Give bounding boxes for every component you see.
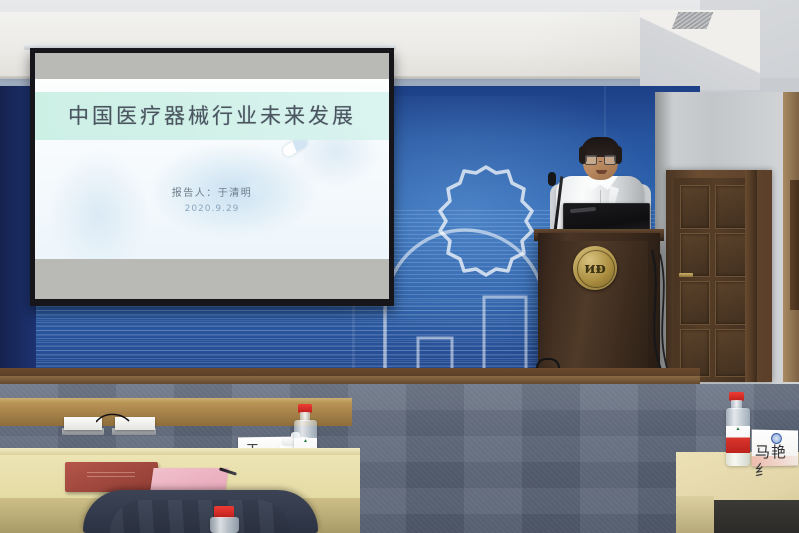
nameplate-right-text: 马艳纟: [755, 443, 798, 480]
microphone-head-icon: [548, 172, 556, 186]
slide-date: 2020.9.29: [35, 204, 389, 214]
bottle-brand-right: 矿泉水: [726, 432, 750, 437]
conference-photo: 中国医疗器械行业未来发展 报告人：于清明 2020.9.29: [0, 0, 799, 533]
projection-screen: 中国医疗器械行业未来发展 报告人：于清明 2020.9.29: [30, 48, 394, 306]
right-wall-panel: [790, 180, 799, 310]
air-vent-grille: [672, 12, 714, 29]
right-table-skirt: [676, 496, 714, 533]
red-folder: [65, 462, 158, 492]
chair-fabric-folds: [110, 500, 290, 533]
eyeglass-lens-left: [585, 155, 597, 165]
slide-title: 中国医疗器械行业未来发展: [35, 97, 389, 135]
laptop-screen-glare: [570, 207, 596, 213]
eyeglass-bridge: [599, 161, 603, 162]
emblem-mark: ᴎᴆ: [573, 246, 617, 290]
slide-presenter-line: 报告人：于清明: [35, 184, 389, 199]
folder-emboss: [87, 472, 135, 480]
door-jamb: [745, 170, 757, 382]
pink-paper: [150, 468, 228, 490]
chair-back: [83, 490, 318, 533]
eyeglasses-icon: [585, 155, 616, 164]
eyeglass-lens-right: [604, 155, 616, 165]
speaker-brow-right: [603, 152, 614, 154]
projected-slide: 中国医疗器械行业未来发展 报告人：于清明 2020.9.29: [35, 79, 389, 259]
institution-emblem: ᴎᴆ: [573, 246, 617, 290]
bottle-label-right: ▲ 矿泉水: [726, 426, 750, 453]
water-bottle-foreground: [210, 517, 239, 533]
door-panel-1: [680, 185, 710, 229]
speaker-brow-left: [586, 152, 597, 154]
water-bottle-right: ▲ 矿泉水: [726, 408, 750, 466]
right-table-shadow-gap: [714, 500, 799, 533]
mic-cable-stage: [96, 410, 130, 428]
nameplate-right: 马艳纟: [752, 429, 798, 466]
